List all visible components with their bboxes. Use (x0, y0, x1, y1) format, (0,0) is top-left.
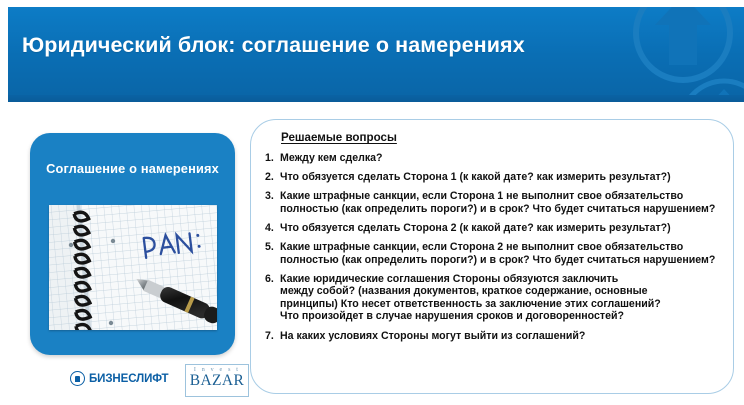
list-item-text: Какие штрафные санкции, если Сторона 2 н… (280, 241, 723, 266)
list-item-line: полностью (как определить пороги?) и в с… (280, 254, 723, 267)
list-item-text: Между кем сделка? (280, 152, 723, 165)
header-underline-strip (8, 95, 744, 102)
list-item: 6.Какие юридические соглашения Стороны о… (265, 273, 723, 323)
questions-list: 1.Между кем сделка?2.Что обязуется сдела… (265, 152, 723, 349)
notebook-plan-photo (49, 205, 217, 330)
list-item-text: Что обязуется сделать Сторона 2 (к какой… (280, 222, 723, 235)
list-item-number: 5. (265, 241, 280, 266)
watermark-circle-arrow-up-icon-2 (669, 69, 744, 95)
list-item: 1.Между кем сделка? (265, 152, 723, 165)
list-item: 2.Что обязуется сделать Сторона 1 (к как… (265, 171, 723, 184)
list-item-line: Что произойдет в случае нарушения сроков… (280, 310, 723, 323)
list-item: 3.Какие штрафные санкции, если Сторона 1… (265, 190, 723, 215)
list-item-line: полностью (как определить пороги?) и в с… (280, 203, 723, 216)
list-item-text: На каких условиях Стороны могут выйти из… (280, 330, 723, 343)
partner-logos: БИЗНЕСЛИФТ I n v e s t BAZAR (30, 364, 240, 400)
list-item-line: На каких условиях Стороны могут выйти из… (280, 330, 723, 343)
list-item-number: 3. (265, 190, 280, 215)
list-item-number: 7. (265, 330, 280, 343)
left-topic-card: Соглашение о намерениях (30, 133, 235, 355)
list-item-line: Какие юридические соглашения Стороны обя… (280, 273, 723, 286)
bizneslift-circle-icon (70, 371, 85, 386)
list-item-number: 4. (265, 222, 280, 235)
list-item-text: Какие юридические соглашения Стороны обя… (280, 273, 723, 323)
list-item-number: 1. (265, 152, 280, 165)
questions-card: Решаемые вопросы 1.Между кем сделка?2.Чт… (250, 119, 734, 394)
list-item-line: Какие штрафные санкции, если Сторона 1 н… (280, 190, 723, 203)
logo-invest-bazar: I n v e s t BAZAR (185, 364, 249, 397)
list-item: 7.На каких условиях Стороны могут выйти … (265, 330, 723, 343)
questions-heading: Решаемые вопросы (281, 131, 397, 144)
list-item-line: принципы) Кто несет ответственность за з… (280, 298, 723, 311)
list-item: 5.Какие штрафные санкции, если Сторона 2… (265, 241, 723, 266)
list-item-number: 2. (265, 171, 280, 184)
page-title: Юридический блок: соглашение о намерения… (22, 33, 525, 58)
list-item-text: Какие штрафные санкции, если Сторона 1 н… (280, 190, 723, 215)
slide-header-banner: Юридический блок: соглашение о намерения… (8, 7, 744, 95)
list-item-line: Какие штрафные санкции, если Сторона 2 н… (280, 241, 723, 254)
left-card-title: Соглашение о намерениях (30, 161, 235, 176)
bizneslift-label: БИЗНЕСЛИФТ (89, 373, 168, 385)
list-item-line: Что обязуется сделать Сторона 1 (к какой… (280, 171, 723, 184)
list-item-line: Что обязуется сделать Сторона 2 (к какой… (280, 222, 723, 235)
list-item: 4.Что обязуется сделать Сторона 2 (к как… (265, 222, 723, 235)
logo-bizneslift: БИЗНЕСЛИФТ (70, 371, 168, 386)
list-item-number: 6. (265, 273, 280, 323)
list-item-line: между собой? (названия документов, кратк… (280, 285, 723, 298)
bazar-label: BAZAR (186, 373, 248, 389)
list-item-line: Между кем сделка? (280, 152, 723, 165)
list-item-text: Что обязуется сделать Сторона 1 (к какой… (280, 171, 723, 184)
